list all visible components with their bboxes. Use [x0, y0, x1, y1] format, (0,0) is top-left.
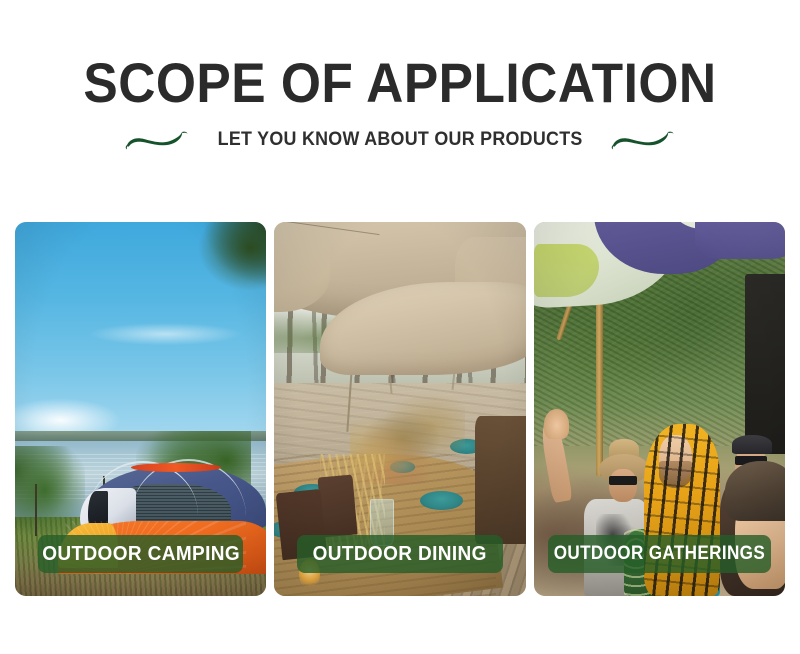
scope-of-application-section: SCOPE OF APPLICATION LET YOU KNOW ABOUT … [0, 0, 800, 654]
application-cards: OUTDOOR CAMPING [15, 222, 785, 596]
section-subtitle: LET YOU KNOW ABOUT OUR PRODUCTS [218, 129, 583, 151]
card-label-text: OUTDOOR CAMPING [42, 543, 240, 566]
ribbon-flourish-icon-left [124, 127, 190, 153]
application-card-outdoor-gatherings[interactable]: OUTDOOR GATHERINGS [534, 222, 785, 596]
card-label-text: OUTDOOR DINING [313, 543, 487, 566]
application-card-outdoor-dining[interactable]: OUTDOOR DINING [274, 222, 525, 596]
subtitle-row: LET YOU KNOW ABOUT OUR PRODUCTS [0, 126, 800, 154]
ribbon-flourish-icon-right [610, 127, 676, 153]
card-label-text: OUTDOOR GATHERINGS [554, 543, 765, 565]
page-title: SCOPE OF APPLICATION [32, 0, 768, 114]
card-label-outdoor-camping[interactable]: OUTDOOR CAMPING [38, 535, 243, 573]
section-header: SCOPE OF APPLICATION LET YOU KNOW ABOUT … [0, 0, 800, 154]
application-card-outdoor-camping[interactable]: OUTDOOR CAMPING [15, 222, 266, 596]
card-label-outdoor-dining[interactable]: OUTDOOR DINING [297, 535, 502, 573]
card-label-outdoor-gatherings[interactable]: OUTDOOR GATHERINGS [548, 535, 771, 573]
